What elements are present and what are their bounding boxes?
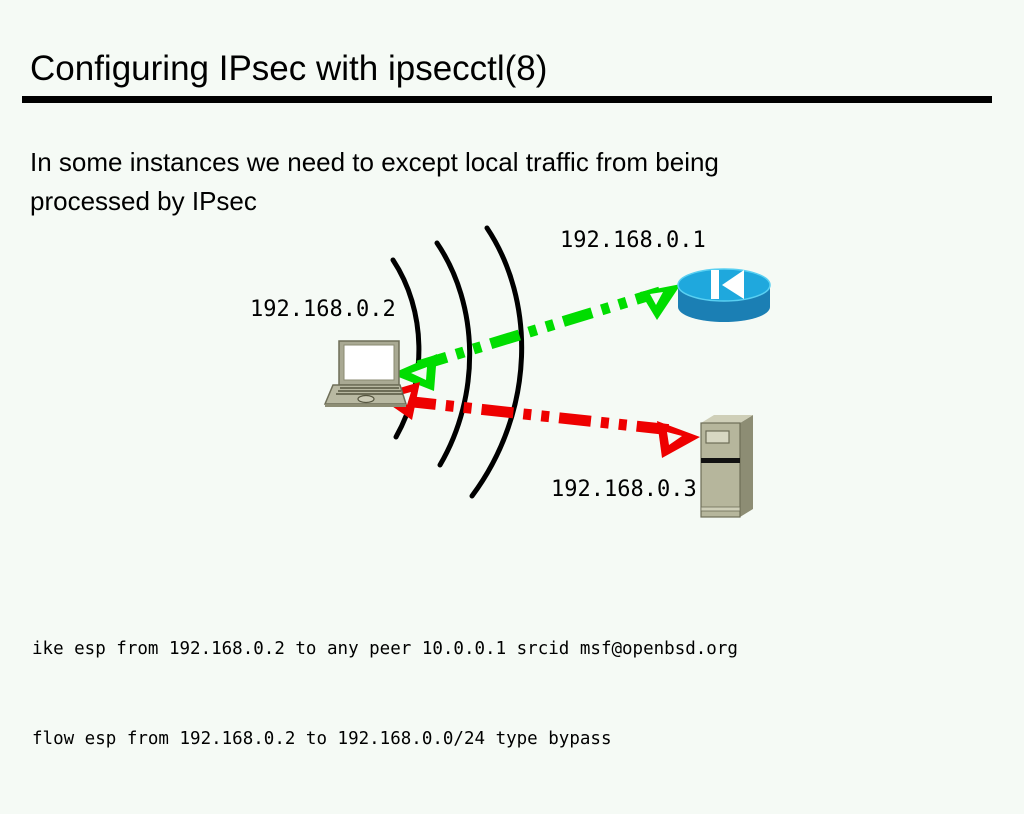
laptop-ip-label: 192.168.0.2 [250, 297, 396, 322]
code-line-2: flow esp from 192.168.0.2 to 192.168.0.0… [32, 724, 738, 754]
link-laptop-server [376, 382, 700, 458]
server-ip-label: 192.168.0.3 [551, 477, 697, 502]
code-line-1: ike esp from 192.168.0.2 to any peer 10.… [32, 634, 738, 664]
page-title: Configuring IPsec with ipsecctl(8) [30, 47, 547, 91]
link-laptop-router [391, 284, 681, 391]
wireless-signal-arcs [393, 228, 522, 496]
router-icon [678, 269, 770, 322]
laptop-icon [325, 341, 406, 407]
network-diagram: 192.168.0.1 192.168.0.2 192.168.0.3 [0, 215, 1024, 535]
title-divider [22, 96, 992, 103]
config-code-block: ike esp from 192.168.0.2 to any peer 10.… [32, 574, 738, 814]
body-line-1: In some instances we need to except loca… [30, 143, 930, 182]
body-text: In some instances we need to except loca… [30, 143, 930, 221]
slide: Configuring IPsec with ipsecctl(8) In so… [0, 0, 1024, 768]
wifi-arc-3 [472, 228, 522, 496]
router-ip-label: 192.168.0.1 [560, 228, 706, 253]
server-icon [701, 415, 753, 517]
